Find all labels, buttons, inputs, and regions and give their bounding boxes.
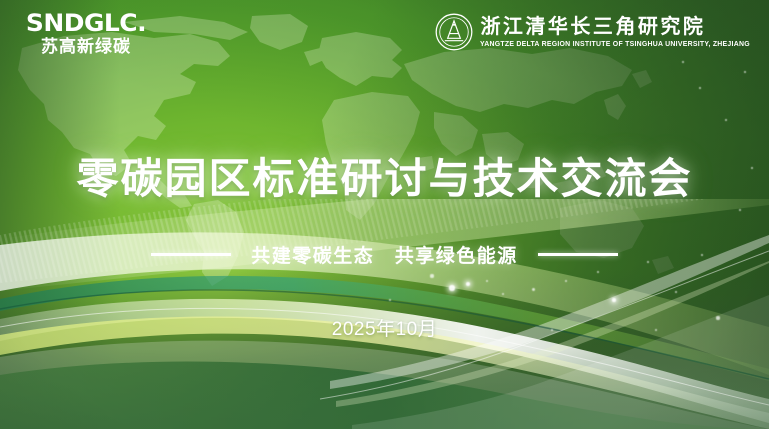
- institute-chinese-name: 浙江清华长三角研究院: [480, 16, 705, 38]
- event-date: 2025年10月: [0, 314, 769, 341]
- sndglc-wordmark: SNDGLC.: [24, 11, 149, 35]
- institute-english-name: YANGTZE DELTA REGION INSTITUTE OF TSINGH…: [480, 41, 750, 48]
- sndglc-logo: SNDGLC. 苏高新绿碳: [26, 11, 146, 57]
- right-rule: [538, 253, 618, 256]
- vignette-overlay: [0, 0, 769, 429]
- yangtze-delta-institute-logo: 浙江清华长三角研究院 YANGTZE DELTA REGION INSTITUT…: [435, 13, 753, 51]
- pagoda-circle-emblem-icon: [435, 13, 473, 51]
- subtitle-row: 共建零碳生态 共享绿色能源: [0, 241, 769, 268]
- poster-canvas: SNDGLC. 苏高新绿碳 浙江清华长三角研究院 YANGTZE DELTA R…: [0, 0, 769, 429]
- page-title: 零碳园区标准研讨与技术交流会: [0, 145, 769, 206]
- subtitle-text: 共建零碳生态 共享绿色能源: [251, 241, 518, 268]
- sndglc-chinese-name: 苏高新绿碳: [26, 38, 146, 57]
- left-rule: [151, 253, 231, 256]
